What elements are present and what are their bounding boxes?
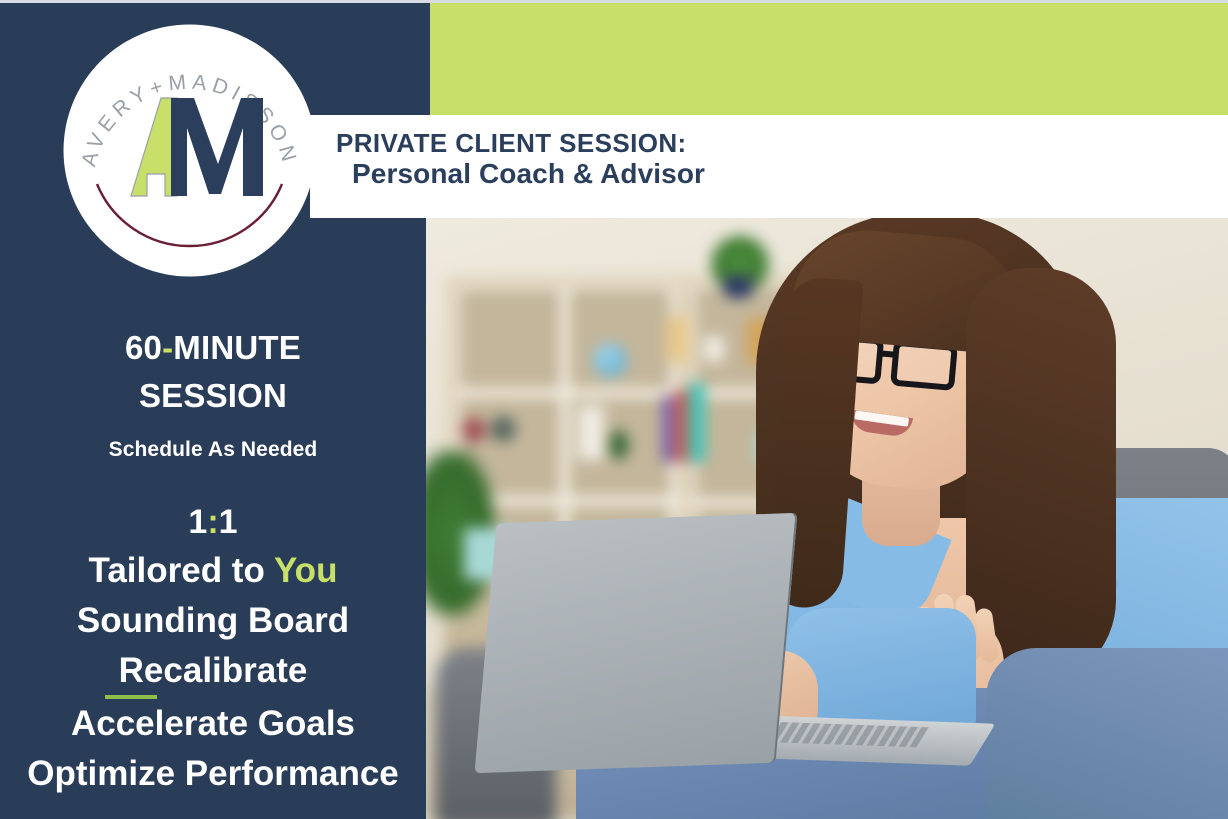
small-plant-decor	[609, 430, 629, 460]
book-decor	[689, 383, 705, 462]
vase-decor	[578, 406, 604, 460]
top-edge-line	[0, 0, 1228, 3]
duration-line-2: SESSION	[139, 377, 287, 414]
jar-decor	[704, 336, 724, 362]
benefit-tailored: Tailored to You	[0, 546, 426, 596]
duration-dash: -	[162, 329, 173, 366]
benefit-accelerate-goals: Accelerate Goals	[0, 699, 426, 749]
session-photo	[426, 218, 1228, 819]
tailored-accent: You	[274, 551, 338, 590]
ball-decor	[462, 418, 486, 442]
laptop-screen-lid	[474, 513, 797, 773]
book-decor	[662, 396, 674, 462]
benefits-list: 1:1 Tailored to You Sounding Board Recal…	[0, 498, 426, 799]
benefit-optimize-performance: Optimize Performance	[0, 749, 426, 799]
duration-unit: MINUTE	[173, 329, 301, 366]
ratio-right: 1	[219, 503, 238, 541]
schedule-note: Schedule As Needed	[0, 438, 426, 462]
book-decor	[675, 390, 688, 462]
ratio-left: 1	[188, 503, 207, 541]
ratio-colon: :	[207, 503, 218, 541]
brand-logo: AVERY+MADISSON	[63, 24, 316, 277]
header-line-1: PRIVATE CLIENT SESSION:	[336, 129, 705, 158]
benefit-sounding-board: Sounding Board	[0, 596, 426, 646]
plant-pot	[724, 276, 752, 298]
duration-block: 60-MINUTE SESSION Schedule As Needed	[0, 324, 426, 462]
header-band: PRIVATE CLIENT SESSION: Personal Coach &…	[310, 115, 1228, 218]
header-text-block: PRIVATE CLIENT SESSION: Personal Coach &…	[336, 129, 705, 189]
green-accent-band	[430, 0, 1228, 115]
duration-number: 60	[125, 329, 162, 366]
globe-decor	[593, 343, 627, 377]
benefit-recalibrate: Recalibrate	[0, 646, 426, 696]
candle-decor	[666, 316, 690, 362]
header-line-2: Personal Coach & Advisor	[336, 158, 705, 189]
benefit-one-to-one: 1:1	[0, 498, 426, 546]
person-jeans-right	[986, 648, 1228, 819]
ball-decor	[490, 416, 516, 442]
promo-graphic: PRIVATE CLIENT SESSION: Personal Coach &…	[0, 0, 1228, 819]
tailored-text: Tailored to	[89, 551, 274, 590]
duration-headline: 60-MINUTE SESSION	[0, 324, 426, 420]
